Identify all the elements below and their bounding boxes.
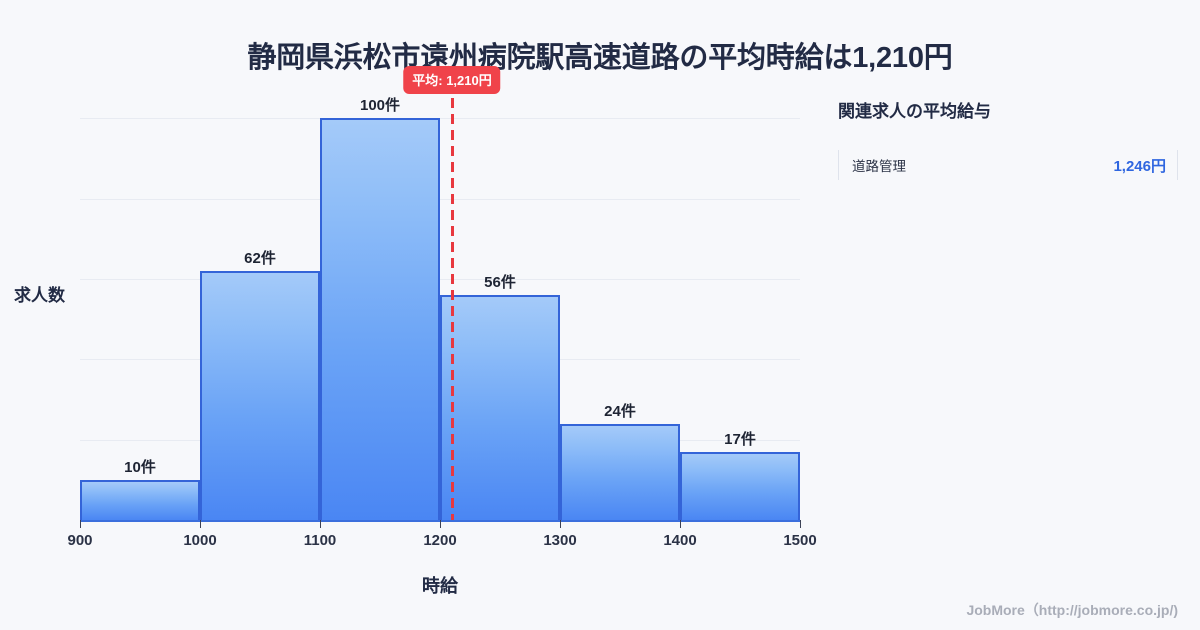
average-badge: 平均: 1,210円 bbox=[403, 66, 500, 94]
bar-value-label: 62件 bbox=[244, 247, 276, 268]
gridline bbox=[80, 199, 800, 200]
bar-value-label: 10件 bbox=[124, 456, 156, 477]
footer-credit: JobMore（http://jobmore.co.jp/) bbox=[966, 600, 1178, 620]
gridline bbox=[80, 118, 800, 119]
x-axis-tick bbox=[200, 520, 201, 528]
related-salary-title: 関連求人の平均給与 bbox=[838, 97, 1178, 122]
x-axis-tick-label: 1100 bbox=[304, 532, 337, 549]
histogram-bar[interactable] bbox=[680, 452, 800, 520]
x-axis-tick-label: 1300 bbox=[543, 532, 576, 549]
x-axis-tick bbox=[680, 520, 681, 528]
x-axis-tick-label: 1400 bbox=[663, 532, 696, 549]
x-axis-tick-label: 900 bbox=[67, 532, 92, 549]
page-title: 静岡県浜松市遠州病院駅高速道路の平均時給は1,210円 bbox=[0, 34, 1200, 76]
related-salary-panel: 関連求人の平均給与 道路管理1,246円 bbox=[838, 97, 1178, 182]
related-salary-name: 道路管理 bbox=[852, 155, 906, 175]
histogram-bar[interactable] bbox=[200, 271, 320, 520]
histogram-bar[interactable] bbox=[560, 424, 680, 521]
x-axis-tick-label: 1000 bbox=[183, 532, 216, 549]
related-salary-list: 道路管理1,246円 bbox=[838, 148, 1178, 182]
bar-value-label: 56件 bbox=[484, 271, 516, 292]
chart-page: 静岡県浜松市遠州病院駅高速道路の平均時給は1,210円 求人数 10件62件10… bbox=[0, 0, 1200, 630]
x-axis-tick bbox=[320, 520, 321, 528]
histogram-chart: 求人数 10件62件100件56件24件17件90010001100120013… bbox=[0, 85, 820, 605]
x-axis-tick-label: 1500 bbox=[783, 532, 816, 549]
plot-area: 10件62件100件56件24件17件900100011001200130014… bbox=[80, 98, 800, 520]
x-axis-tick bbox=[80, 520, 81, 528]
histogram-bar[interactable] bbox=[320, 118, 440, 520]
histogram-bar[interactable] bbox=[440, 295, 560, 520]
bar-value-label: 24件 bbox=[604, 400, 636, 421]
average-line bbox=[451, 98, 454, 520]
y-axis-title: 求人数 bbox=[14, 281, 65, 306]
x-axis-title: 時給 bbox=[80, 572, 800, 598]
histogram-bar[interactable] bbox=[80, 480, 200, 520]
related-salary-value: 1,246円 bbox=[1113, 155, 1166, 176]
x-axis-tick bbox=[560, 520, 561, 528]
bar-value-label: 100件 bbox=[360, 94, 400, 115]
x-axis-tick-label: 1200 bbox=[423, 532, 456, 549]
bar-value-label: 17件 bbox=[724, 428, 756, 449]
x-axis-tick bbox=[800, 520, 801, 528]
related-salary-row[interactable]: 道路管理1,246円 bbox=[838, 148, 1178, 182]
x-axis-tick bbox=[440, 520, 441, 528]
gridline bbox=[80, 279, 800, 280]
